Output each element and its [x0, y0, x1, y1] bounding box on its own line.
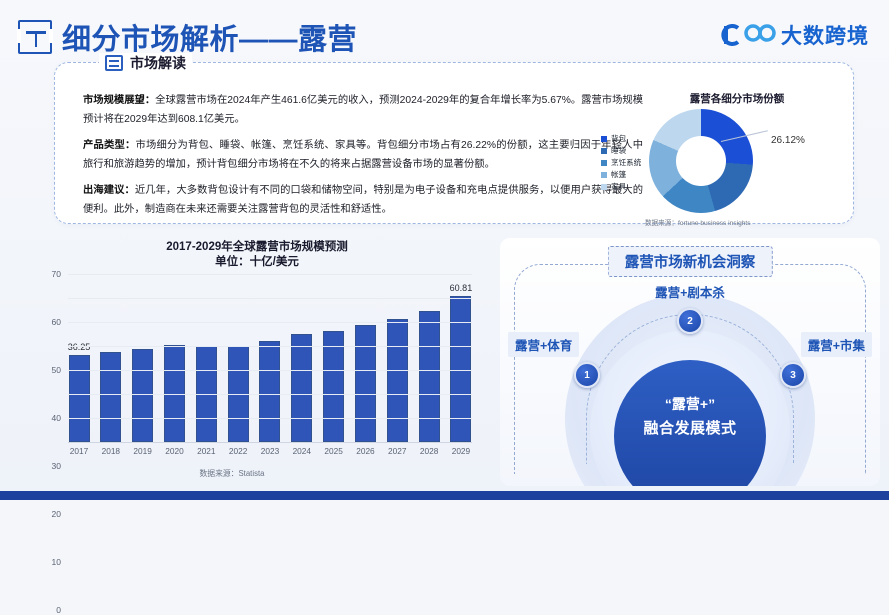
y-axis-tick: 20: [52, 509, 61, 519]
interpretation-body: 市场规模展望：全球露营市场在2024年产生461.6亿美元的收入，预测2024-…: [83, 91, 643, 226]
x-axis-tick: 2024: [291, 446, 313, 456]
bar: [100, 352, 121, 442]
x-axis-tick: 2022: [227, 446, 249, 456]
interpretation-header: 市场解读: [99, 53, 192, 73]
bar-chart-subtitle: 单位：十亿/美元: [22, 255, 492, 270]
core-label-top: “露营+”: [665, 394, 715, 414]
y-axis-tick: 50: [52, 365, 61, 375]
bar: [355, 325, 376, 442]
x-axis-tick: 2017: [68, 446, 90, 456]
legend-label: 烹饪系统: [611, 157, 641, 168]
core-label-bottom: 融合发展模式: [643, 417, 736, 438]
x-axis-tick: 2019: [132, 446, 154, 456]
bar-column: [418, 274, 440, 442]
bar: [132, 349, 153, 442]
legend-swatch: [601, 136, 607, 142]
opportunity-panel: 露营市场新机会洞察 露营+剧本杀 露营+体育 露营+市集 1 2 3 “露营+”…: [500, 238, 880, 486]
x-axis-tick: 2020: [163, 446, 185, 456]
bar-column: [100, 274, 122, 442]
bar-column: 60.81: [450, 274, 472, 442]
donut-legend: 背包睡袋烹饪系统帐篷家具: [601, 133, 641, 192]
bar-column: 36.25: [68, 274, 90, 442]
opportunity-node-1[interactable]: 1: [574, 362, 600, 388]
x-axis-tick: 2027: [386, 446, 408, 456]
bar-chart: 2017-2029年全球露营市场规模预测 单位：十亿/美元 36.2560.81…: [22, 238, 492, 490]
opportunity-title: 露营市场新机会洞察: [608, 246, 773, 277]
legend-swatch: [601, 148, 607, 154]
paragraph-lead: 产品类型：: [83, 140, 136, 151]
legend-label: 睡袋: [611, 145, 626, 156]
bottom-accent-bar: [0, 491, 889, 500]
bar: [291, 334, 312, 442]
x-axis-tick: 2023: [259, 446, 281, 456]
bar-column: [291, 274, 313, 442]
paragraph-text: 近几年，大多数背包设计有不同的口袋和储物空间，特别是为电子设备和充电点提供服务，…: [83, 185, 643, 215]
bar-column: [354, 274, 376, 442]
x-axis-tick: 2021: [195, 446, 217, 456]
donut-graphic: [649, 109, 753, 213]
bar-chart-title-main: 2017-2029年全球露营市场规模预测: [22, 240, 492, 255]
bar-column: [195, 274, 217, 442]
gridline: 60: [68, 298, 472, 299]
logo-100-icon: [720, 22, 776, 48]
x-axis-tick: 2018: [100, 446, 122, 456]
bar: [323, 331, 344, 442]
bar: [69, 355, 90, 442]
paragraph-text: 市场细分为背包、睡袋、帐篷、烹饪系统、家具等。背包细分市场占有26.22%的份额…: [83, 140, 643, 170]
bar-value-label: 60.81: [450, 283, 473, 293]
opportunity-right-label: 露营+市集: [801, 332, 872, 357]
bar-column: [132, 274, 154, 442]
donut-hole: [676, 136, 726, 186]
gridline: 30: [68, 370, 472, 371]
brand-logo: 大数跨境: [720, 20, 869, 50]
paragraph: 市场规模展望：全球露营市场在2024年产生461.6亿美元的收入，预测2024-…: [83, 91, 643, 129]
x-axis-tick: 2029: [450, 446, 472, 456]
legend-swatch: [601, 184, 607, 190]
x-axis-tick: 2025: [323, 446, 345, 456]
gridline: 50: [68, 322, 472, 323]
bar: [259, 341, 280, 442]
document-icon: [105, 55, 123, 71]
bar-chart-plot: 36.2560.81 010203040506070: [68, 274, 472, 442]
gridline: 40: [68, 346, 472, 347]
title-group: 细分市场解析——露营: [18, 16, 357, 58]
paragraph: 产品类型：市场细分为背包、睡袋、帐篷、烹饪系统、家具等。背包细分市场占有26.2…: [83, 136, 643, 174]
opportunity-node-3[interactable]: 3: [780, 362, 806, 388]
legend-item: 家具: [601, 181, 641, 192]
legend-item: 背包: [601, 133, 641, 144]
donut-chart: 露营各细分市场份额 26.12% 背包睡袋烹饪系统帐篷家具 数据来源：fortu…: [621, 91, 835, 223]
bar: [387, 319, 408, 442]
y-axis-tick: 70: [52, 269, 61, 279]
donut-source: 数据来源：fortune business insights: [645, 217, 751, 227]
slide-page: 细分市场解析——露营 大数跨境 市场解读 市场规模展望：全球露营市场在2024年…: [0, 0, 889, 500]
gridline: 10: [68, 418, 472, 419]
legend-item: 烹饪系统: [601, 157, 641, 168]
bar-column: [323, 274, 345, 442]
bar-value-label: 36.25: [68, 342, 91, 352]
y-axis-tick: 0: [56, 605, 61, 615]
gridline: 70: [68, 274, 472, 275]
paragraph-text: 全球露营市场在2024年产生461.6亿美元的收入，预测2024-2029年的复…: [83, 95, 643, 125]
legend-item: 帐篷: [601, 169, 641, 180]
bar: [419, 311, 440, 442]
x-axis-labels: 2017201820192020202120222023202420252026…: [68, 446, 472, 456]
gridline: 20: [68, 394, 472, 395]
donut-chart-title: 露营各细分市场份额: [639, 91, 835, 106]
bar-column: [386, 274, 408, 442]
opportunity-node-2[interactable]: 2: [677, 308, 703, 334]
legend-swatch: [601, 160, 607, 166]
market-interpretation-card: 市场解读 市场规模展望：全球露营市场在2024年产生461.6亿美元的收入，预测…: [54, 62, 854, 224]
interpretation-title: 市场解读: [130, 53, 186, 73]
bar-column: [259, 274, 281, 442]
opportunity-left-label: 露营+体育: [508, 332, 579, 357]
bar-column: [163, 274, 185, 442]
bar-group: 36.2560.81: [68, 274, 472, 442]
x-axis-tick: 2026: [354, 446, 376, 456]
y-axis-tick: 10: [52, 557, 61, 567]
opportunity-top-label: 露营+剧本杀: [655, 282, 725, 301]
x-axis-tick: 2028: [418, 446, 440, 456]
x-axis-line: [68, 442, 472, 443]
legend-label: 背包: [611, 133, 626, 144]
page-title: 细分市场解析——露营: [62, 16, 357, 58]
legend-item: 睡袋: [601, 145, 641, 156]
y-axis-tick: 60: [52, 317, 61, 327]
logo-text: 大数跨境: [781, 20, 869, 50]
title-bracket-icon: [18, 20, 52, 54]
y-axis-tick: 40: [52, 413, 61, 423]
legend-swatch: [601, 172, 607, 178]
paragraph-lead: 市场规模展望：: [83, 95, 155, 106]
bar-column: [227, 274, 249, 442]
paragraph: 出海建议：近几年，大多数背包设计有不同的口袋和储物空间，特别是为电子设备和充电点…: [83, 181, 643, 219]
paragraph-lead: 出海建议：: [83, 185, 135, 196]
legend-label: 家具: [611, 181, 626, 192]
donut-callout-value: 26.12%: [771, 135, 805, 146]
legend-label: 帐篷: [611, 169, 626, 180]
bar-chart-title: 2017-2029年全球露营市场规模预测 单位：十亿/美元: [22, 240, 492, 270]
bar-chart-source: 数据来源：Statista: [22, 468, 442, 479]
